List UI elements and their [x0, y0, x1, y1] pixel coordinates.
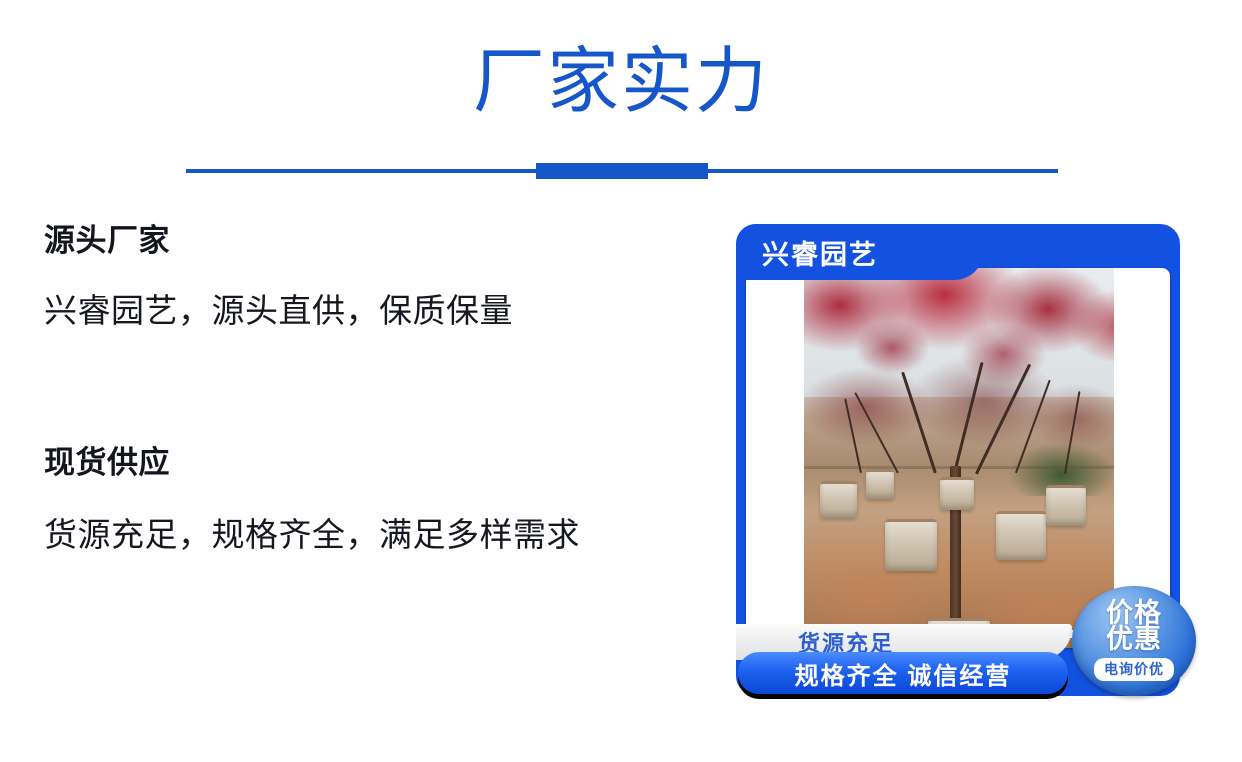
brand-tab-label: 兴睿园艺 — [762, 233, 878, 272]
slogan-primary-label: 规格齐全 诚信经营 — [795, 656, 1012, 691]
photo-rootball — [885, 519, 938, 571]
price-promo-badge[interactable]: 价格 优惠 电询价优 — [1072, 586, 1196, 696]
feature-block-source-factory: 源头厂家 兴睿园艺，源头直供，保质保量 — [44, 222, 704, 336]
divider-center-block — [536, 163, 708, 179]
photo-rootball — [940, 477, 974, 510]
photo-rootball — [866, 469, 894, 499]
nursery-photo — [804, 268, 1114, 648]
feature-body: 兴睿园艺，源头直供，保质保量 — [44, 285, 704, 336]
price-badge-pill: 电询价优 — [1094, 658, 1174, 681]
photo-rootball — [820, 481, 857, 518]
photo-rootball — [1046, 485, 1086, 526]
price-badge-line2: 优惠 — [1106, 627, 1162, 653]
photo-rootball — [996, 511, 1046, 560]
brand-tab: 兴睿园艺 — [736, 224, 984, 280]
feature-heading: 源头厂家 — [44, 222, 704, 261]
slogan-bar-primary: 规格齐全 诚信经营 — [738, 652, 1068, 694]
feature-block-in-stock: 现货供应 货源充足，规格齐全，满足多样需求 — [44, 444, 704, 560]
feature-body: 货源充足，规格齐全，满足多样需求 — [44, 509, 694, 560]
feature-heading: 现货供应 — [44, 444, 704, 483]
page-title: 厂家实力 — [0, 46, 1242, 118]
photo-soil — [810, 564, 934, 632]
title-divider — [186, 163, 1058, 179]
product-photo-card: 兴睿园艺 货源充足 规格齐全 诚信经营 价格 优惠 电询价优 — [736, 224, 1180, 696]
feature-list: 源头厂家 兴睿园艺，源头直供，保质保量 现货供应 货源充足，规格齐全，满足多样需… — [44, 222, 704, 560]
